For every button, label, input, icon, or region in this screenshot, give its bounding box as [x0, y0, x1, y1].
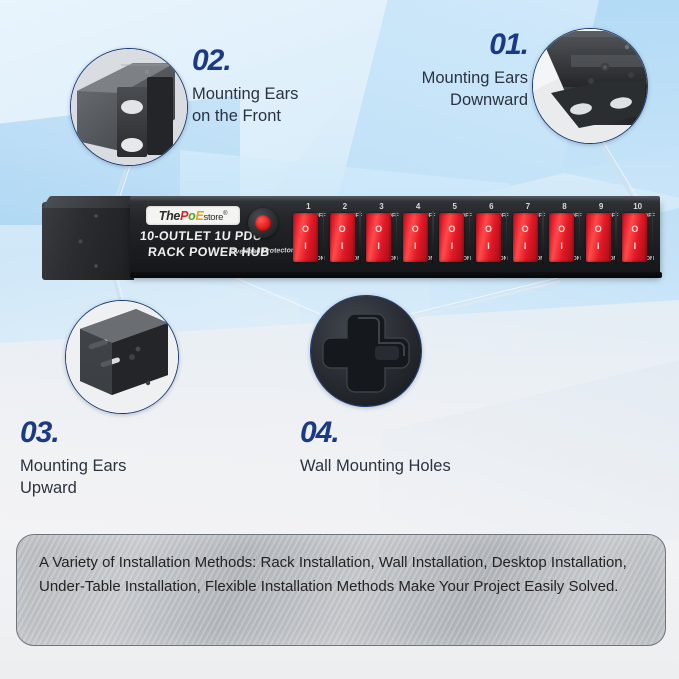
outlet-switch-2[interactable]: 2OFFONOI — [327, 200, 364, 276]
infographic-canvas: 02. Mounting Ears on the Front — [0, 0, 679, 679]
pdu-left-endcap — [42, 202, 134, 280]
switch-number-label: 5 — [436, 202, 473, 211]
caption-text: A Variety of Installation Methods: Rack … — [17, 535, 665, 600]
switch-symbol-off: O — [375, 225, 382, 234]
brand-logo-plate: ThePoEstore® — [146, 206, 240, 225]
brand-e: E — [195, 209, 203, 223]
switch-symbol-on: I — [451, 242, 454, 251]
switch-symbol-on: I — [634, 242, 637, 251]
switch-symbol-on: I — [414, 242, 417, 251]
outlet-switch-8[interactable]: 8OFFONOI — [546, 200, 583, 276]
wall-mounting-keyhole-photo — [311, 296, 421, 406]
switch-symbol-on: I — [304, 242, 307, 251]
mounting-ear-front-photo — [71, 49, 187, 165]
switch-symbol-on: I — [487, 242, 490, 251]
callout-04-title-line1: Wall Mounting Holes — [300, 456, 560, 478]
callout-01-image — [532, 28, 648, 144]
switch-symbol-off: O — [595, 225, 602, 234]
outlet-switch-7[interactable]: 7OFFONOI — [510, 200, 547, 276]
switch-symbol-off: O — [448, 225, 455, 234]
callout-02-text: 02. Mounting Ears on the Front — [192, 46, 352, 128]
switch-symbol-on: I — [524, 242, 527, 251]
pdu-screw — [78, 239, 83, 244]
outlet-switch-10[interactable]: 10OFFONOI — [619, 200, 656, 276]
switch-number-label: 3 — [363, 202, 400, 211]
switch-symbol-off: O — [631, 225, 638, 234]
switch-separator — [469, 211, 471, 264]
pdu-screw — [94, 214, 98, 218]
callout-01-title-line1: Mounting Ears — [378, 68, 528, 90]
callout-03-text: 03. Mounting Ears Upward — [20, 418, 200, 500]
rocker-switch[interactable]: OI — [330, 213, 355, 262]
callout-03-number: 03. — [20, 418, 200, 448]
switch-symbol-on: I — [377, 242, 380, 251]
switch-symbol-on: I — [560, 242, 563, 251]
brand-p: P — [180, 209, 188, 223]
rocker-switch[interactable]: OI — [403, 213, 428, 262]
pdu-product-image: ThePoEstore® 10-OUTLET 1U PDU RACK POWER… — [42, 192, 660, 288]
callout-04-image — [310, 295, 422, 407]
outlet-switch-3[interactable]: 3OFFONOI — [363, 200, 400, 276]
switch-separator — [652, 211, 654, 264]
switch-symbol-off: O — [558, 225, 565, 234]
switch-number-label: 2 — [327, 202, 364, 211]
switch-symbol-off: O — [412, 225, 419, 234]
outlet-switch-6[interactable]: 6OFFONOI — [473, 200, 510, 276]
switch-separator — [432, 211, 434, 264]
switch-number-label: 9 — [583, 202, 620, 211]
rocker-switch[interactable]: OI — [586, 213, 611, 262]
mounting-ear-downward-photo — [533, 29, 647, 143]
switch-separator — [542, 211, 544, 264]
pdu-model-line1: 10-OUTLET 1U PDU — [139, 229, 308, 243]
outlet-switch-4[interactable]: 4OFFONOI — [400, 200, 437, 276]
outlet-switch-5[interactable]: 5OFFONOI — [436, 200, 473, 276]
switch-separator — [579, 211, 581, 264]
pdu-screw — [94, 264, 98, 268]
switch-symbol-off: O — [485, 225, 492, 234]
callout-02-title-line2: on the Front — [192, 106, 352, 128]
switch-number-label: 6 — [473, 202, 510, 211]
rocker-switch[interactable]: OI — [476, 213, 501, 262]
brand-the: The — [159, 209, 180, 223]
pdu-top-bevel-left — [42, 196, 141, 208]
outlet-switch-1[interactable]: 1OFFONOI — [290, 200, 327, 276]
brand-logo: ThePoEstore® — [159, 209, 228, 223]
rocker-switch[interactable]: OI — [366, 213, 391, 262]
callout-01-number: 01. — [378, 30, 528, 60]
switch-symbol-off: O — [522, 225, 529, 234]
switch-separator — [615, 211, 617, 264]
switch-symbol-on: I — [597, 242, 600, 251]
callout-03-image — [65, 300, 179, 414]
rocker-switch[interactable]: OI — [439, 213, 464, 262]
callout-02-image — [70, 48, 188, 166]
switch-number-label: 4 — [400, 202, 437, 211]
callout-02-number: 02. — [192, 46, 352, 76]
callout-02-title-line1: Mounting Ears — [192, 84, 352, 106]
caption-box: A Variety of Installation Methods: Rack … — [16, 534, 666, 646]
callout-03-title-line1: Mounting Ears — [20, 456, 200, 478]
switch-symbol-on: I — [341, 242, 344, 251]
rocker-switch[interactable]: OI — [622, 213, 647, 262]
overload-protector-bezel[interactable] — [248, 208, 278, 238]
switch-separator — [506, 211, 508, 264]
switch-number-label: 10 — [619, 202, 656, 211]
switch-number-label: 1 — [290, 202, 327, 211]
outlet-switch-9[interactable]: 9OFFONOI — [583, 200, 620, 276]
rocker-switch[interactable]: OI — [513, 213, 538, 262]
rocker-switch[interactable]: OI — [549, 213, 574, 262]
switch-number-label: 7 — [510, 202, 547, 211]
switch-separator — [396, 211, 398, 264]
brand-store: store — [204, 212, 224, 223]
mounting-ear-upward-photo — [66, 301, 178, 413]
switch-separator — [359, 211, 361, 264]
switch-separator — [323, 211, 325, 264]
callout-01-title-line2: Downward — [378, 90, 528, 112]
callout-01-text: 01. Mounting Ears Downward — [378, 30, 528, 112]
callout-03-title-line2: Upward — [20, 478, 200, 500]
overload-protector-button[interactable] — [255, 215, 271, 231]
brand-registered: ® — [223, 210, 227, 216]
switch-number-label: 8 — [546, 202, 583, 211]
rocker-switch[interactable]: OI — [293, 213, 318, 262]
switch-symbol-off: O — [302, 225, 309, 234]
switch-symbol-off: O — [339, 225, 346, 234]
switch-bank: 1OFFONOI2OFFONOI3OFFONOI4OFFONOI5OFFONOI… — [290, 200, 658, 276]
callout-04-number: 04. — [300, 418, 560, 448]
callout-04-text: 04. Wall Mounting Holes — [300, 418, 560, 478]
